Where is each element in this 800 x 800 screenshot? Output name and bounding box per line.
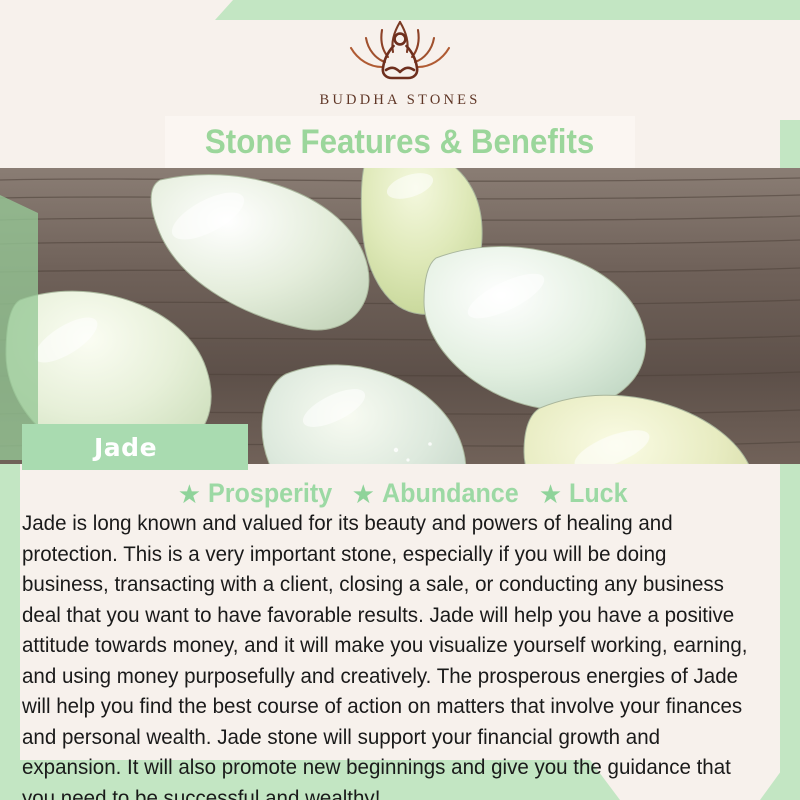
page-title: Stone Features & Benefits: [205, 123, 594, 162]
stone-description: Jade is long known and valued for its be…: [22, 508, 755, 800]
stone-name-badge: Jade: [22, 424, 248, 470]
benefit-label: Abundance: [382, 478, 519, 509]
benefit-item: ★ Prosperity: [168, 478, 342, 509]
title-banner: Stone Features & Benefits: [165, 116, 635, 168]
stone-photo: [0, 168, 800, 464]
star-icon: ★: [352, 481, 375, 507]
benefit-item: ★ Luck: [529, 478, 632, 509]
decorative-photo-left-strip: [0, 195, 38, 460]
lotus-meditation-icon: [336, 18, 464, 86]
stone-benefits-card: BUDDHA STONES Stone Features & Benefits: [0, 0, 800, 800]
stone-name: Jade: [94, 433, 157, 462]
benefit-label: Prosperity: [208, 478, 332, 509]
brand-name: BUDDHA STONES: [320, 92, 481, 109]
benefits-row: ★ Prosperity ★ Abundance ★ Luck: [0, 478, 800, 509]
star-icon: ★: [539, 481, 562, 507]
benefit-item: ★ Abundance: [342, 478, 529, 509]
decorative-top-green-band: [215, 0, 800, 20]
benefit-label: Luck: [569, 478, 628, 509]
brand-logo: BUDDHA STONES: [0, 18, 800, 109]
stone-photo-illustration: [0, 168, 800, 464]
star-icon: ★: [178, 481, 201, 507]
